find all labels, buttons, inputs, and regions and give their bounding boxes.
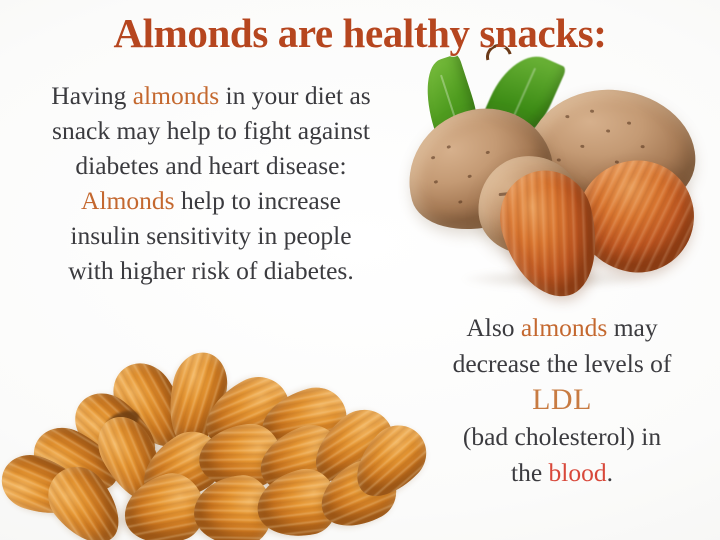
- highlight-almonds: almonds: [521, 313, 607, 342]
- highlight-almonds: almonds: [133, 81, 219, 110]
- left-line-1-part-a: Having: [51, 81, 132, 110]
- left-line-2: snack may help to fight against: [4, 113, 418, 148]
- right-line-1-part-a: Also: [466, 313, 521, 342]
- highlight-blood: blood: [549, 458, 607, 487]
- right-line-5: the blood.: [408, 455, 716, 491]
- poster-title: Almonds are healthy snacks:: [0, 8, 720, 58]
- left-line-5: insulin sensitivity in people: [4, 218, 418, 253]
- right-line-1-part-c: may: [607, 313, 657, 342]
- almond-pile-photo: [2, 352, 426, 540]
- almond-health-poster: Almonds are healthy snacks: Having almon…: [0, 0, 720, 540]
- right-line-3: LDL: [408, 382, 716, 419]
- left-line-4-part-b: help to increase: [175, 186, 341, 215]
- left-paragraph: Having almonds in your diet as snack may…: [4, 78, 418, 288]
- right-paragraph: Also almonds may decrease the levels of …: [408, 310, 716, 491]
- left-line-4: Almonds help to increase: [4, 183, 418, 218]
- almonds-in-shell-with-leaves-photo: [400, 52, 718, 314]
- left-line-1: Having almonds in your diet as: [4, 78, 418, 113]
- right-line-2: decrease the levels of: [408, 346, 716, 382]
- left-line-1-part-c: in your diet as: [219, 81, 371, 110]
- right-line-5-part-a: the: [511, 458, 549, 487]
- highlight-ldl: LDL: [532, 383, 592, 416]
- right-line-1: Also almonds may: [408, 310, 716, 346]
- left-line-3: diabetes and heart disease:: [4, 148, 418, 183]
- right-line-5-part-c: .: [607, 458, 613, 487]
- highlight-almonds: Almonds: [81, 186, 175, 215]
- right-line-4: (bad cholesterol) in: [408, 419, 716, 455]
- left-line-6: with higher risk of diabetes.: [4, 253, 418, 288]
